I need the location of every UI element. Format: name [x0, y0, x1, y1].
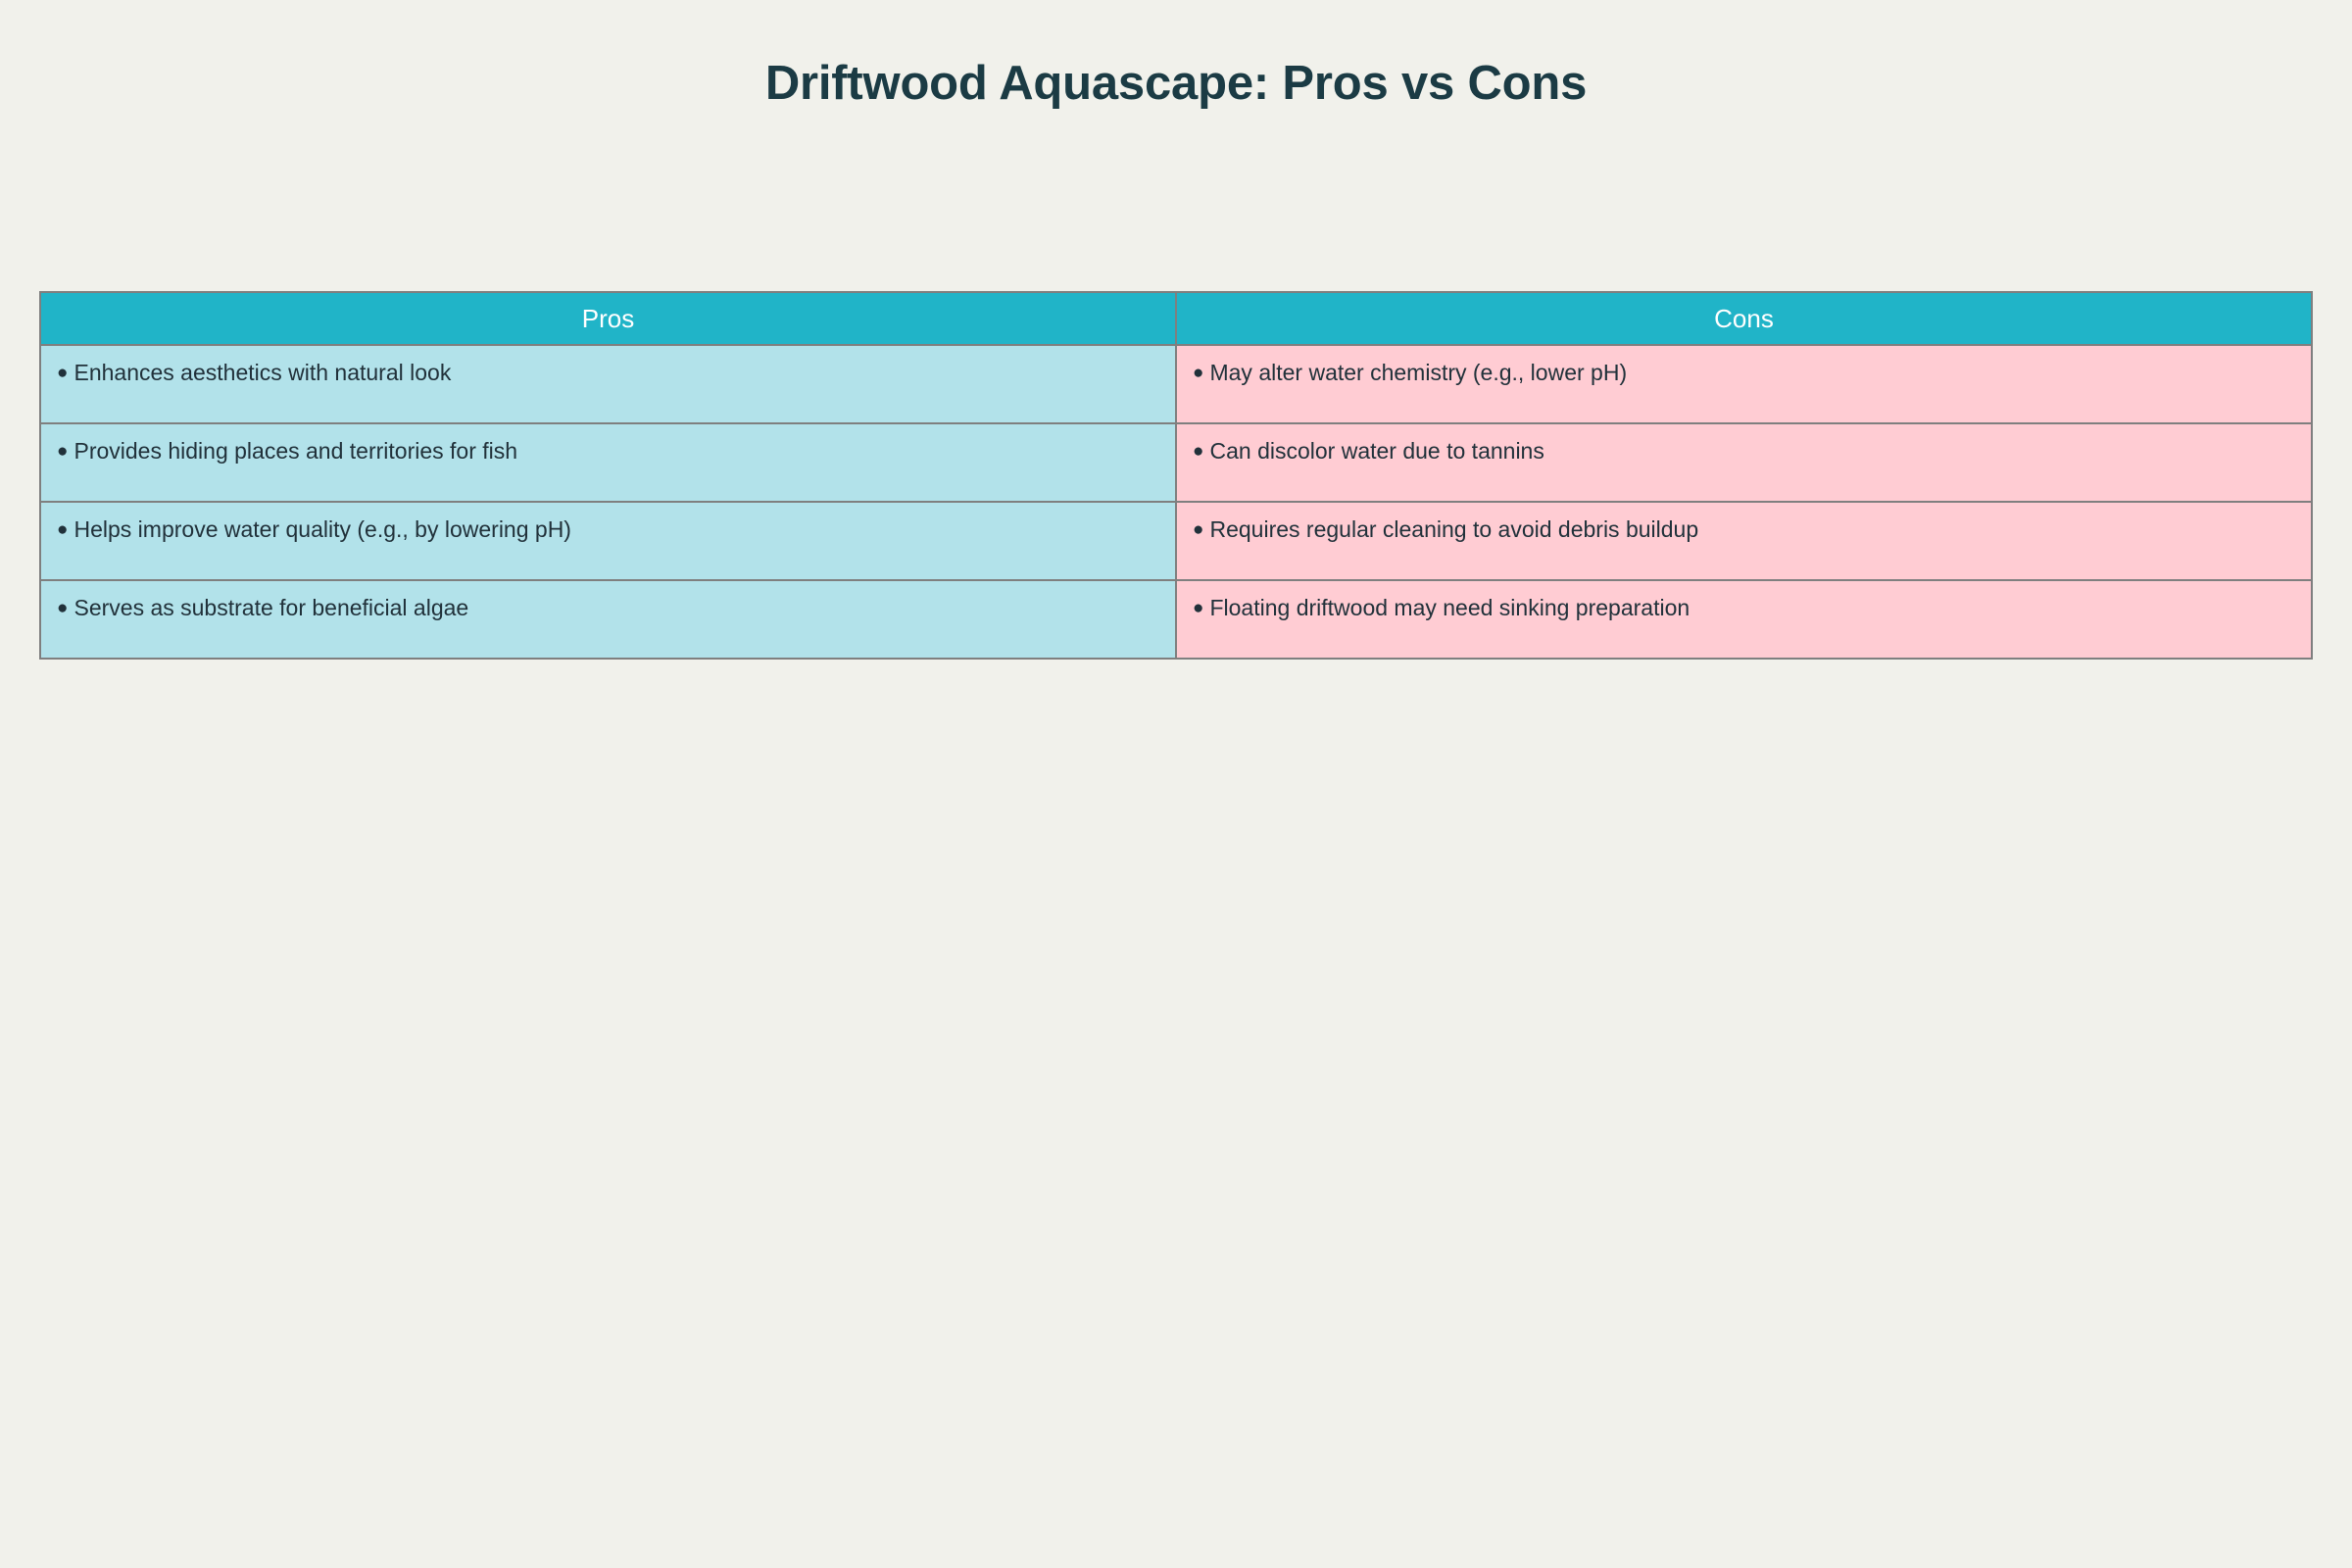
pros-cell: ●Serves as substrate for beneficial alga…: [40, 580, 1176, 659]
pros-cell: ●Provides hiding places and territories …: [40, 423, 1176, 502]
table-header: Pros Cons: [40, 292, 2312, 345]
bullet-icon: ●: [1193, 520, 1203, 539]
cons-cell-text: Floating driftwood may need sinking prep…: [1209, 595, 1690, 620]
table-header-row: Pros Cons: [40, 292, 2312, 345]
pros-cell-text: Enhances aesthetics with natural look: [73, 360, 451, 385]
pros-cell-text: Serves as substrate for beneficial algae: [73, 595, 468, 620]
cons-cell: ●Requires regular cleaning to avoid debr…: [1176, 502, 2312, 580]
table-row: ●Serves as substrate for beneficial alga…: [40, 580, 2312, 659]
bullet-icon: ●: [1193, 442, 1203, 461]
table-row: ●Provides hiding places and territories …: [40, 423, 2312, 502]
bullet-icon: ●: [57, 599, 68, 617]
pros-cell-text: Helps improve water quality (e.g., by lo…: [73, 516, 570, 542]
pros-cell: ●Helps improve water quality (e.g., by l…: [40, 502, 1176, 580]
pros-cons-table-container: Pros Cons ●Enhances aesthetics with natu…: [39, 291, 2313, 660]
column-header-cons: Cons: [1176, 292, 2312, 345]
cons-cell-text: May alter water chemistry (e.g., lower p…: [1209, 360, 1627, 385]
table-body: ●Enhances aesthetics with natural look ●…: [40, 345, 2312, 659]
pros-cell: ●Enhances aesthetics with natural look: [40, 345, 1176, 423]
page-title: Driftwood Aquascape: Pros vs Cons: [0, 55, 2352, 113]
table-row: ●Helps improve water quality (e.g., by l…: [40, 502, 2312, 580]
page-root: Driftwood Aquascape: Pros vs Cons Pros C…: [0, 0, 2352, 1568]
pros-cons-table: Pros Cons ●Enhances aesthetics with natu…: [39, 291, 2313, 660]
bullet-icon: ●: [57, 364, 68, 382]
bullet-icon: ●: [57, 520, 68, 539]
cons-cell-text: Requires regular cleaning to avoid debri…: [1209, 516, 1698, 542]
bullet-icon: ●: [57, 442, 68, 461]
cons-cell: ●Can discolor water due to tannins: [1176, 423, 2312, 502]
cons-cell: ●Floating driftwood may need sinking pre…: [1176, 580, 2312, 659]
pros-cell-text: Provides hiding places and territories f…: [73, 438, 517, 464]
cons-cell-text: Can discolor water due to tannins: [1209, 438, 1543, 464]
bullet-icon: ●: [1193, 599, 1203, 617]
bullet-icon: ●: [1193, 364, 1203, 382]
column-header-pros: Pros: [40, 292, 1176, 345]
table-row: ●Enhances aesthetics with natural look ●…: [40, 345, 2312, 423]
cons-cell: ●May alter water chemistry (e.g., lower …: [1176, 345, 2312, 423]
